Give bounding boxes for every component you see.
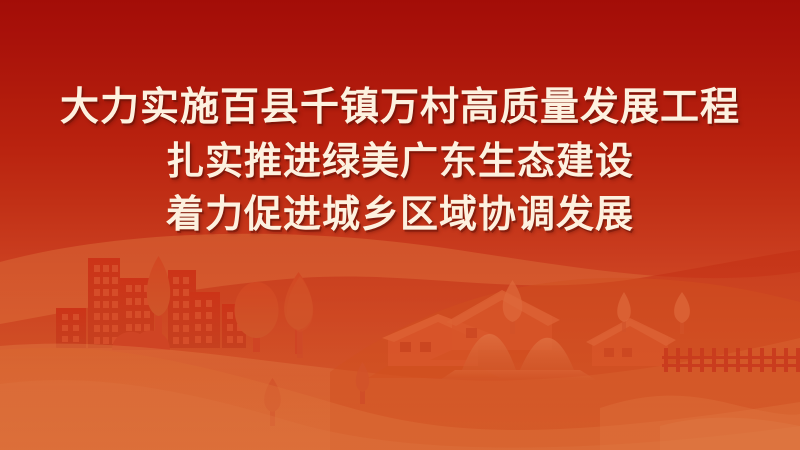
poster-banner: 大力实施百县千镇万村高质量发展工程 扎实推进绿美广东生态建设 着力促进城乡区域协… bbox=[0, 0, 800, 450]
scenery-illustration bbox=[0, 220, 800, 450]
headline-line-3: 着力促进城乡区域协调发展 bbox=[0, 195, 800, 233]
headline-line-2: 扎实推进绿美广东生态建设 bbox=[0, 142, 800, 180]
headline-block: 大力实施百县千镇万村高质量发展工程 扎实推进绿美广东生态建设 着力促进城乡区域协… bbox=[0, 88, 800, 233]
headline-line-1: 大力实施百县千镇万村高质量发展工程 bbox=[0, 88, 800, 127]
